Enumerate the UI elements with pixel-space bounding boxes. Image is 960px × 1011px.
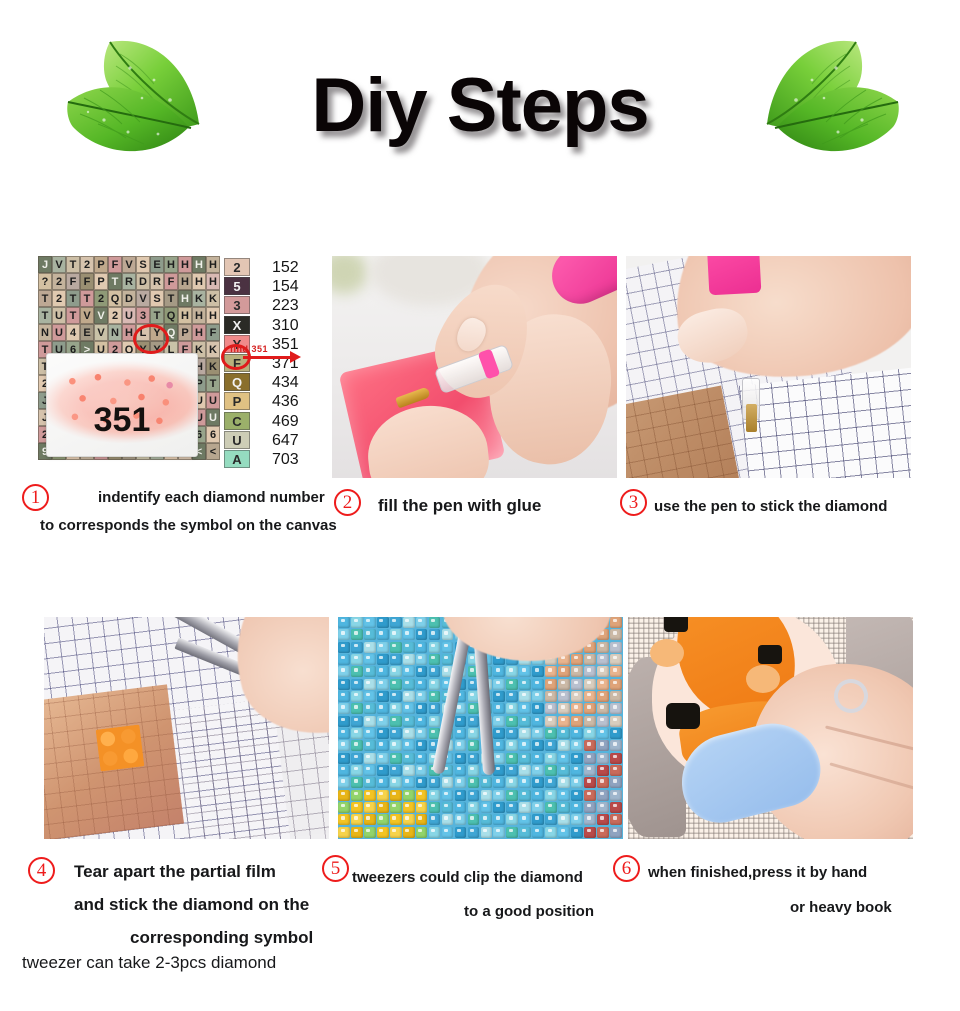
symbol-cell: H <box>178 290 192 307</box>
diamond-bead <box>351 753 363 764</box>
symbol-cell: F <box>206 324 220 341</box>
diamond-bead <box>403 703 415 714</box>
diamond-bead <box>416 666 428 677</box>
diamond-bead <box>468 765 480 776</box>
diamond-bead <box>506 790 518 801</box>
symbol-cell: T <box>66 290 80 307</box>
diamond-bead <box>377 642 389 653</box>
diamond-bead <box>610 802 622 813</box>
symbol-cell: Q <box>164 307 178 324</box>
symbol-cell: F <box>66 273 80 290</box>
symbol-cell: K <box>192 290 206 307</box>
diamond-bead <box>403 629 415 640</box>
diamond-bead <box>558 703 570 714</box>
diamond-bead <box>545 802 557 813</box>
diamond-bead <box>364 753 376 764</box>
diamond-bead <box>519 666 531 677</box>
diamond-bead <box>351 802 363 813</box>
diamond-bead <box>610 740 622 751</box>
diamond-bead <box>390 666 402 677</box>
diamond-bead <box>545 777 557 788</box>
diamond-bead <box>584 728 596 739</box>
diamond-bead <box>532 679 544 690</box>
diamond-bead <box>610 814 622 825</box>
symbol-cell: H <box>164 256 178 273</box>
diamond-bead <box>571 814 583 825</box>
diamond-bead <box>610 753 622 764</box>
diamond-bead <box>519 753 531 764</box>
diamond-bead <box>403 617 415 628</box>
symbol-cell: H <box>206 307 220 324</box>
diamond-bead <box>558 827 570 838</box>
diamond-bead <box>377 629 389 640</box>
diamond-bead <box>403 802 415 813</box>
legend-symbol-cell: 5 <box>224 277 250 295</box>
diamond-bead <box>403 728 415 739</box>
symbol-cell: N <box>108 324 122 341</box>
diamond-bead <box>403 666 415 677</box>
diamond-bead <box>493 666 505 677</box>
diamond-bead <box>364 728 376 739</box>
diamond-bead <box>351 654 363 665</box>
symbol-cell: V <box>122 256 136 273</box>
symbol-cell: H <box>192 307 206 324</box>
diamond-bead <box>338 691 350 702</box>
symbol-cell: P <box>178 324 192 341</box>
diamond-bead <box>416 802 428 813</box>
diamond-bead <box>558 666 570 677</box>
diamond-bead <box>610 703 622 714</box>
diamond-bead <box>584 654 596 665</box>
step-number-3: 3 <box>620 489 647 516</box>
diamond-number: 154 <box>272 277 299 296</box>
diamond-bead <box>506 814 518 825</box>
diamond-bead <box>597 740 609 751</box>
symbol-cell: P <box>94 256 108 273</box>
diamond-bead <box>532 814 544 825</box>
symbol-cell: V <box>94 307 108 324</box>
diamond-bead <box>584 790 596 801</box>
diamond-bead <box>493 814 505 825</box>
diamond-bead <box>377 777 389 788</box>
diamond-bead <box>506 827 518 838</box>
diamond-bead <box>545 753 557 764</box>
diamond-bead <box>416 679 428 690</box>
diamond-bead <box>416 753 428 764</box>
diamond-bead <box>545 703 557 714</box>
diamond-bead <box>390 814 402 825</box>
diamond-bead <box>545 740 557 751</box>
symbol-cell: T <box>164 290 178 307</box>
step-6-caption-line-1: when finished,press it by hand <box>648 864 867 881</box>
diamond-bead <box>558 790 570 801</box>
diamond-bead <box>364 642 376 653</box>
diamond-bead <box>545 679 557 690</box>
diamond-bead <box>364 814 376 825</box>
symbol-cell: R <box>122 273 136 290</box>
diamond-bead <box>481 790 493 801</box>
diamond-bead <box>403 827 415 838</box>
diamond-bead <box>493 728 505 739</box>
diamond-bead <box>584 703 596 714</box>
diamond-bead <box>416 716 428 727</box>
diamond-number-column: 152154223310351371434436469647703 <box>254 256 299 478</box>
symbol-cell: 6 <box>206 426 220 443</box>
diamond-bead <box>377 740 389 751</box>
diamond-bead <box>519 790 531 801</box>
legend-symbol-cell: 2 <box>224 258 250 276</box>
diamond-bead <box>390 716 402 727</box>
diamond-bead <box>519 679 531 690</box>
diamond-bead <box>493 802 505 813</box>
diamond-bead <box>532 716 544 727</box>
diamond-bead <box>571 827 583 838</box>
diamond-bead <box>493 679 505 690</box>
diamond-bead <box>416 617 428 628</box>
diamond-bead <box>532 728 544 739</box>
diamond-bead <box>481 802 493 813</box>
diamond-bead <box>429 814 441 825</box>
step-4-caption-line-2: and stick the diamond on the <box>74 895 309 915</box>
diamond-bead <box>532 790 544 801</box>
diamond-bead <box>429 654 441 665</box>
diamond-bead <box>558 765 570 776</box>
diamond-number: 436 <box>272 392 299 411</box>
diamond-bead <box>338 765 350 776</box>
diamond-bead <box>468 777 480 788</box>
header: Diy Steps <box>0 0 960 230</box>
diamond-bead <box>377 617 389 628</box>
step-4-image <box>44 617 329 839</box>
diamond-bead <box>377 765 389 776</box>
symbol-cell: D <box>136 273 150 290</box>
step-number-6: 6 <box>613 855 640 882</box>
symbol-cell: S <box>150 290 164 307</box>
diamond-bead <box>584 753 596 764</box>
diamond-bead <box>519 703 531 714</box>
step-number-5: 5 <box>322 855 349 882</box>
diamond-bead <box>403 790 415 801</box>
diamond-bead <box>429 679 441 690</box>
diamond-bead <box>532 666 544 677</box>
symbol-cell: T <box>66 256 80 273</box>
diamond-bead <box>416 740 428 751</box>
find-arrow-head <box>290 351 301 363</box>
symbol-cell: F <box>80 273 94 290</box>
diamond-bead <box>416 642 428 653</box>
diamond-bead <box>481 814 493 825</box>
diamond-bead <box>571 691 583 702</box>
symbol-cell: S <box>136 256 150 273</box>
diamond-bead <box>429 827 441 838</box>
symbol-cell: J <box>38 256 52 273</box>
diamond-bead <box>532 703 544 714</box>
diamond-bead <box>558 728 570 739</box>
diamond-bead <box>506 777 518 788</box>
diamond-bead <box>493 790 505 801</box>
diamond-bead <box>429 790 441 801</box>
symbol-cell: 2 <box>108 307 122 324</box>
diamond-bead <box>584 666 596 677</box>
diamond-bead <box>571 777 583 788</box>
symbol-cell: F <box>164 273 178 290</box>
diamond-bag: 351 <box>46 353 198 457</box>
diamond-bead <box>532 765 544 776</box>
diamond-bead <box>558 777 570 788</box>
legend-symbol-cell: Q <box>224 373 250 391</box>
diamond-bead <box>364 777 376 788</box>
diamond-bead <box>610 617 622 628</box>
diamond-bead <box>558 716 570 727</box>
diamond-bead <box>351 703 363 714</box>
diamond-bead <box>390 740 402 751</box>
diamond-bead <box>493 777 505 788</box>
diamond-bead <box>364 629 376 640</box>
diamond-bead <box>571 716 583 727</box>
diamond-bead <box>442 802 454 813</box>
diamond-bead <box>545 790 557 801</box>
symbol-cell: H <box>178 273 192 290</box>
diamond-bead <box>390 765 402 776</box>
diamond-bead <box>597 691 609 702</box>
diamond-bead <box>532 777 544 788</box>
diamond-bead <box>338 617 350 628</box>
diamond-bead <box>442 790 454 801</box>
diamond-bead <box>338 827 350 838</box>
symbol-cell: U <box>206 392 220 409</box>
diamond-bead <box>377 679 389 690</box>
diamond-bead <box>545 728 557 739</box>
diamond-bead <box>571 703 583 714</box>
pink-pen <box>707 256 762 295</box>
diamond-bead <box>403 765 415 776</box>
diamond-bead <box>416 827 428 838</box>
diamond-bead <box>377 716 389 727</box>
diamond-bead <box>377 728 389 739</box>
step-number-2: 2 <box>334 489 361 516</box>
diamond-bead <box>506 802 518 813</box>
symbol-cell: U <box>206 409 220 426</box>
symbol-cell: 3 <box>136 307 150 324</box>
diamond-bead <box>610 691 622 702</box>
diamond-bead <box>442 827 454 838</box>
diamond-bead <box>610 629 622 640</box>
diamond-bead <box>506 728 518 739</box>
diamond-bead <box>403 691 415 702</box>
step-3-image <box>626 256 911 478</box>
symbol-cell: 2 <box>52 290 66 307</box>
diamond-bead <box>338 802 350 813</box>
diamond-bead <box>545 691 557 702</box>
diamond-bead <box>338 629 350 640</box>
symbol-cell: R <box>150 273 164 290</box>
diamond-bead <box>610 666 622 677</box>
diamond-bead <box>429 629 441 640</box>
diamond-bead <box>455 814 467 825</box>
diamond-bead <box>455 765 467 776</box>
diamond-number: 647 <box>272 431 299 450</box>
diamond-bead <box>455 790 467 801</box>
diamond-bead <box>532 753 544 764</box>
diamond-bead <box>610 654 622 665</box>
symbol-cell: H <box>206 256 220 273</box>
diamond-bead <box>390 827 402 838</box>
diamond-bead <box>377 827 389 838</box>
diamond-bead <box>442 654 454 665</box>
diamond-bead <box>468 802 480 813</box>
diamond-bead <box>468 827 480 838</box>
diamond-bead <box>364 703 376 714</box>
step-4-caption-line-1: Tear apart the partial film <box>74 862 276 882</box>
diamond-bead <box>429 777 441 788</box>
diamond-bead <box>338 666 350 677</box>
symbol-cell: T <box>80 290 94 307</box>
diamond-bead <box>610 827 622 838</box>
symbol-cell: Q <box>108 290 122 307</box>
diamond-bead <box>364 740 376 751</box>
diamond-bead <box>558 814 570 825</box>
diamond-bead <box>390 777 402 788</box>
symbol-cell: 2 <box>94 290 108 307</box>
diamond-bead <box>545 814 557 825</box>
diamond-bead <box>584 814 596 825</box>
diamond-bead <box>390 679 402 690</box>
diamond-bead <box>390 728 402 739</box>
symbol-cell: D <box>122 290 136 307</box>
diamond-number: 310 <box>272 316 299 335</box>
diamond-bead <box>519 728 531 739</box>
symbol-cell: H <box>122 324 136 341</box>
diamond-bead <box>571 679 583 690</box>
legend-symbol-cell: P <box>224 392 250 410</box>
diamond-bead <box>390 703 402 714</box>
diamond-bead <box>403 753 415 764</box>
diamond-bead <box>390 753 402 764</box>
diamond-bead <box>493 740 505 751</box>
symbol-cell: K <box>206 358 220 375</box>
diamond-bead <box>571 654 583 665</box>
symbol-cell: T <box>150 307 164 324</box>
diamond-bead <box>571 790 583 801</box>
diamond-bead <box>571 740 583 751</box>
symbol-cell: U <box>52 307 66 324</box>
symbol-cell: V <box>94 324 108 341</box>
symbol-legend-column: 253XYFQPCUA <box>220 256 254 478</box>
symbol-cell: 2 <box>52 273 66 290</box>
diamond-bag-label: 351 <box>47 401 197 440</box>
diamond-bead <box>519 777 531 788</box>
symbol-cell: U <box>122 307 136 324</box>
diamond-bead <box>403 642 415 653</box>
step-1-caption-line-1: indentify each diamond number <box>98 489 325 506</box>
diamond-bead <box>377 790 389 801</box>
diamond-bead <box>506 716 518 727</box>
diamond-bead <box>364 679 376 690</box>
diamond-bead <box>364 827 376 838</box>
diamond-bead <box>519 814 531 825</box>
diamond-bead <box>351 765 363 776</box>
diamond-bead <box>597 654 609 665</box>
diamond-bead <box>429 691 441 702</box>
diamond-bead <box>351 691 363 702</box>
diamond-bead <box>390 802 402 813</box>
footer-note: tweezer can take 2-3pcs diamond <box>22 953 276 973</box>
diamond-bead <box>506 753 518 764</box>
diamond-bead <box>377 753 389 764</box>
diamond-bead <box>558 691 570 702</box>
diamond-bead <box>442 642 454 653</box>
symbol-cell: T <box>108 273 122 290</box>
diamond-bead <box>584 802 596 813</box>
symbol-cell: H <box>178 307 192 324</box>
diamond-bead <box>519 691 531 702</box>
diamond-bead <box>416 777 428 788</box>
symbol-cell: H <box>192 273 206 290</box>
diamond-bead <box>403 740 415 751</box>
step-1-caption-line-2: to corresponds the symbol on the canvas <box>40 517 337 534</box>
diamond-bead <box>351 679 363 690</box>
step-6-image <box>628 617 913 839</box>
diamond-bead <box>338 654 350 665</box>
step-number-1: 1 <box>22 484 49 511</box>
diamond-bead <box>416 629 428 640</box>
symbol-cell: 2 <box>80 256 94 273</box>
step-2-image <box>332 256 617 478</box>
diamond-bead <box>390 629 402 640</box>
diamond-bead <box>597 642 609 653</box>
diamond-bead <box>597 777 609 788</box>
diamond-bead <box>468 728 480 739</box>
diamond-number: 223 <box>272 296 299 315</box>
diamond-bead <box>416 654 428 665</box>
step-5-image <box>338 617 623 839</box>
diamond-bead <box>403 654 415 665</box>
diamond-bead <box>351 617 363 628</box>
diamond-bead <box>571 802 583 813</box>
diamond-bead <box>610 777 622 788</box>
symbol-cell: E <box>150 256 164 273</box>
legend-symbol-cell: X <box>224 316 250 334</box>
diamond-bead <box>571 728 583 739</box>
diamond-bead <box>390 654 402 665</box>
diamond-bead <box>597 666 609 677</box>
diamond-bead <box>429 703 441 714</box>
diamond-bead <box>558 802 570 813</box>
diamond-bead <box>455 777 467 788</box>
diamond-number: 703 <box>272 450 299 469</box>
diamond-bead <box>351 777 363 788</box>
legend-symbol-cell: C <box>224 412 250 430</box>
diamond-bead <box>429 642 441 653</box>
diamond-bead <box>455 753 467 764</box>
diamond-bead <box>403 716 415 727</box>
diamond-bead <box>351 790 363 801</box>
symbol-cell: V <box>80 307 94 324</box>
symbol-cell: H <box>192 256 206 273</box>
diamond-bead <box>571 753 583 764</box>
diamond-bead <box>468 740 480 751</box>
diamond-bead <box>584 679 596 690</box>
diamond-bead <box>558 753 570 764</box>
diamond-bead <box>506 679 518 690</box>
step-3-caption-line-1: use the pen to stick the diamond <box>654 498 887 515</box>
diamond-bead <box>390 790 402 801</box>
symbol-chart-grid: JVT2PFVSEHHHH?2FFPTRDRFHHHT2TT2QDVSTHKKT… <box>38 256 220 478</box>
step-number-4: 4 <box>28 857 55 884</box>
diamond-bead <box>455 802 467 813</box>
diamond-bead <box>429 617 441 628</box>
diamond-bead <box>442 814 454 825</box>
